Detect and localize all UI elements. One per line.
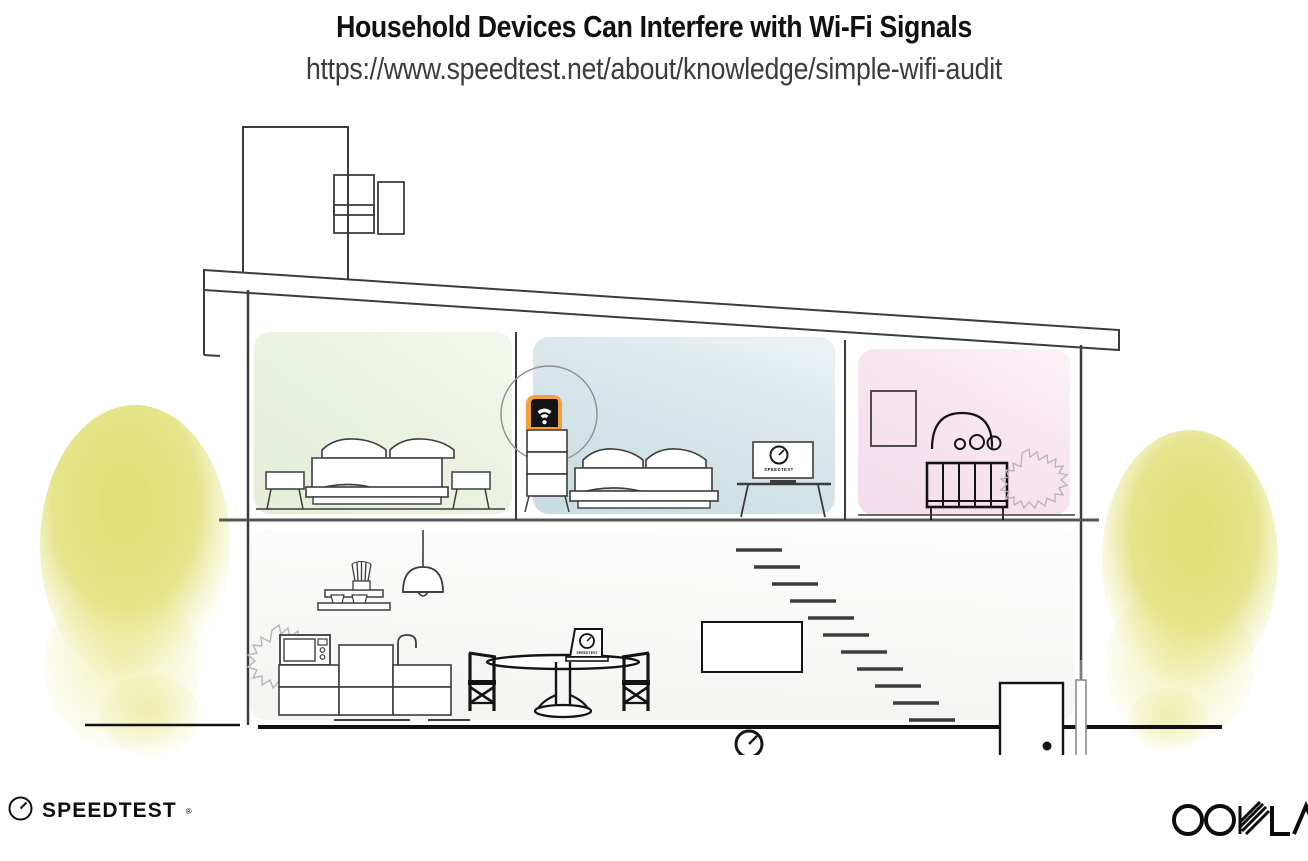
speedtest-gauge-icon [8,796,33,826]
page-title: Household Devices Can Interfere with Wi-… [92,0,1217,45]
header: Household Devices Can Interfere with Wi-… [0,0,1308,87]
bed-green [306,439,454,504]
sidelight-window [1076,660,1086,755]
wifi-router[interactable] [526,395,562,429]
laptop-screen-label: SPEEDTEST [576,651,598,655]
room-bedroom-blue: SPEEDTEST [501,337,845,520]
speedtest-gauge-icon-tv [736,731,762,755]
door-knob [1043,742,1052,751]
room-ground-floor: SPEEDTEST [248,530,1086,755]
roof-structure [204,127,1119,356]
monitor-screen-label: SPEEDTEST [764,467,793,472]
footer: SPEEDTEST ® [0,780,1308,861]
ookla-logo[interactable] [1168,798,1308,847]
source-url: https://www.speedtest.net/about/knowledg… [92,45,1217,87]
foliage-right [1102,430,1278,752]
speedtest-wordmark: SPEEDTEST [42,799,177,823]
house-illustration: SPEEDTEST [0,105,1308,755]
infographic-page: Household Devices Can Interfere with Wi-… [0,0,1308,861]
microwave [280,635,330,665]
speedtest-registered-mark: ® [186,807,192,816]
ookla-wordmark-graphic [1168,798,1308,842]
speedtest-logo[interactable]: SPEEDTEST ® [8,796,192,826]
foliage-left [40,405,230,755]
